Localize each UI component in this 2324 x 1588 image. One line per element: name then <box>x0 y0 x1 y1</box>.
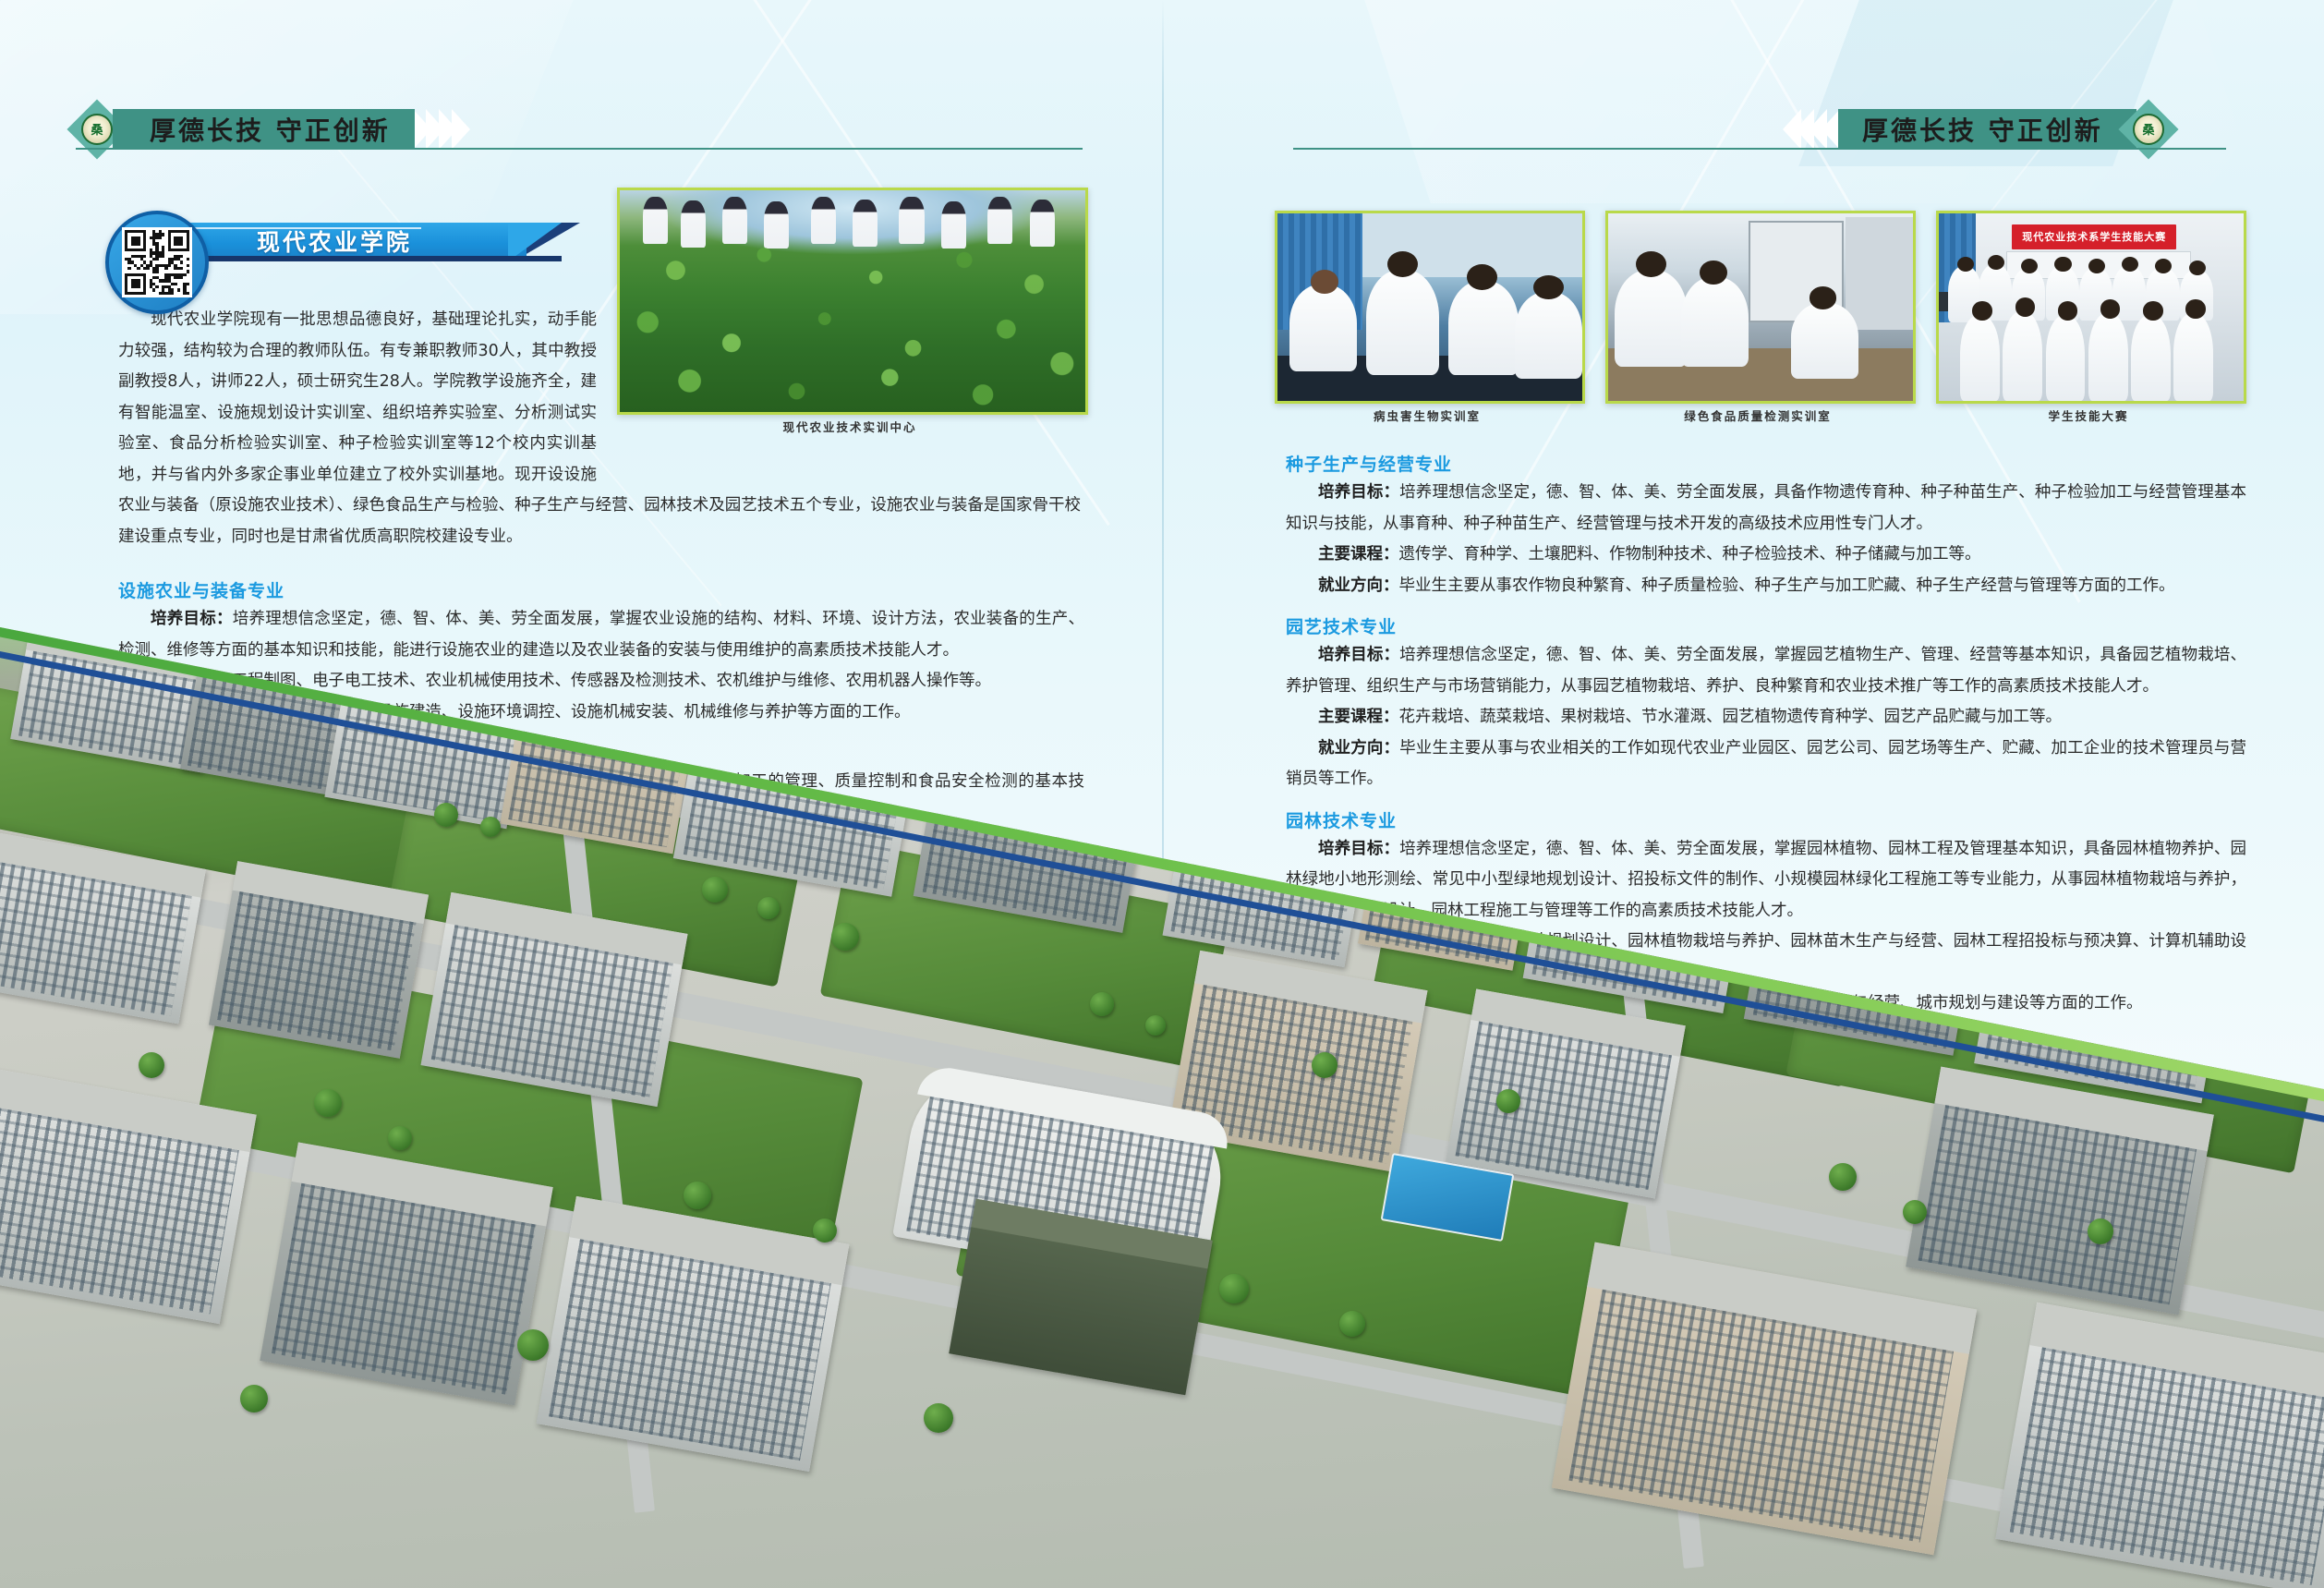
major-courses: 主要课程：遗传学、育种学、土壤肥料、作物制种技术、种子检验技术、种子储藏与加工等… <box>1286 539 2246 571</box>
right-chevrons <box>1783 109 1840 150</box>
right-header-ribbon: 厚德长技 守正创新 桑 <box>1783 109 2170 150</box>
lab-coat-front <box>2173 313 2213 401</box>
lab-photo-pest <box>1275 211 1585 404</box>
college-title-banner: 现代农业学院 <box>164 223 580 261</box>
intro-photo-spacer <box>597 305 1081 490</box>
person-head <box>2021 259 2038 273</box>
person-figure <box>811 197 836 244</box>
person-figure <box>722 197 747 244</box>
campus-tree <box>702 877 728 903</box>
college-title-text: 现代农业学院 <box>257 224 412 258</box>
campus-tree <box>240 1385 268 1412</box>
left-chevrons <box>413 109 470 150</box>
student-skills-photo-caption: 学生技能大赛 <box>1936 406 2241 424</box>
campus-tree <box>1903 1200 1927 1224</box>
person-head <box>1957 257 1974 272</box>
left-intro-flow: 现代农业学院现有一批思想品德良好，基础理论扎实，动手能力较强，结构较为合理的教师… <box>118 305 1081 552</box>
campus-tree <box>388 1126 412 1150</box>
page-gutter-divider <box>1162 0 1164 1007</box>
goal-text: 培养理想信念坚定，德、智、体、美、劳全面发展，掌握农业设施的结构、材料、环境、设… <box>118 610 1084 660</box>
pest-lab-scene <box>1277 213 1582 401</box>
major-goal: 培养目标：培养理想信念坚定，德、智、体、美、劳全面发展，掌握园艺植物生产、管理、… <box>1286 640 2246 702</box>
lab-coat <box>1366 270 1439 375</box>
brochure-page: 桑 厚德长技 守正创新 厚德长技 守正创新 桑 <box>0 0 2324 1588</box>
left-slogan-text: 厚德长技 守正创新 <box>150 111 391 148</box>
major-goal: 培养目标：培养理想信念坚定，德、智、体、美、劳全面发展，具备作物遗传育种、种子种… <box>1286 478 2246 539</box>
lab-coat-front <box>2003 311 2042 401</box>
major-courses: 主要课程：花卉栽培、蔬菜栽培、果树栽培、节水灌溉、园艺植物遗传育种学、园艺产品贮… <box>1286 702 2246 733</box>
person-figure <box>643 197 668 244</box>
courses-label: 主要课程： <box>1318 708 1399 726</box>
person-head <box>2122 257 2138 272</box>
lab-cabinet <box>1846 217 1913 330</box>
bg-polygon-1 <box>0 0 588 314</box>
career-label: 就业方向： <box>1318 739 1399 758</box>
campus-tree <box>684 1182 711 1209</box>
person-head <box>1700 261 1727 285</box>
campus-tree <box>924 1403 953 1433</box>
campus-tree <box>480 817 501 837</box>
person-figure <box>899 197 924 244</box>
campus-tree <box>2088 1218 2113 1244</box>
person-head <box>1988 255 2004 270</box>
chevron-right-icon <box>452 109 470 150</box>
college-qr-code[interactable] <box>105 211 209 314</box>
campus-building <box>1446 988 1685 1198</box>
competition-red-banner: 现代农业技术系学生技能大赛 <box>2012 224 2176 249</box>
campus-tree <box>1496 1089 1520 1113</box>
career-label: 就业方向： <box>1318 576 1399 595</box>
major-block-seed: 种子生产与经营专业 培养目标：培养理想信念坚定，德、智、体、美、劳全面发展，具备… <box>1286 451 2246 601</box>
lab-coat <box>1681 277 1749 367</box>
person-head <box>1636 251 1666 277</box>
person-head <box>1467 264 1497 290</box>
campus-tree <box>1312 1052 1338 1078</box>
left-header-rule <box>76 148 1083 150</box>
career-text: 毕业生主要从事农作物良种繁育、种子质量检验、种子生产与加工贮藏、种子生产经营与管… <box>1399 576 2175 595</box>
campus-tree <box>1090 992 1114 1016</box>
person-head <box>1810 286 1837 309</box>
student-skills-photo: 现代农业技术系学生技能大赛 <box>1936 211 2246 404</box>
campus-building <box>209 861 429 1059</box>
campus-tree <box>314 1089 342 1117</box>
lab-photo-pest-caption: 病虫害生物实训室 <box>1275 406 1580 424</box>
campus-tree <box>139 1052 164 1078</box>
lab-coat-front <box>2046 315 2086 401</box>
major-title: 设施农业与装备专业 <box>118 577 1084 602</box>
food-lab-scene <box>1608 213 1913 401</box>
campus-building <box>260 1143 552 1406</box>
goal-label: 培养目标： <box>1318 646 1399 664</box>
campus-tree <box>1829 1163 1857 1191</box>
person-head <box>2058 301 2077 320</box>
lab-coat <box>1791 303 1858 378</box>
person-head <box>2100 299 2120 318</box>
campus-tree <box>434 803 458 827</box>
goal-text: 培养理想信念坚定，德、智、体、美、劳全面发展，掌握园艺植物生产、管理、经营等基本… <box>1286 646 2246 696</box>
major-block-horticulture: 园艺技术专业 培养目标：培养理想信念坚定，德、智、体、美、劳全面发展，掌握园艺植… <box>1286 613 2246 795</box>
major-career: 就业方向：毕业生主要从事与农业相关的工作如现代农业产业园区、园艺公司、园艺场等生… <box>1286 733 2246 795</box>
major-title: 种子生产与经营专业 <box>1286 451 2246 476</box>
major-career: 就业方向：毕业生主要从事农作物良种繁育、种子质量检验、种子生产与加工贮藏、种子生… <box>1286 571 2246 602</box>
right-header-rule <box>1293 148 2226 150</box>
goal-label: 培养目标： <box>151 610 233 628</box>
person-head <box>2185 299 2205 318</box>
career-text: 毕业生主要从事与农业相关的工作如现代农业产业园区、园艺公司、园艺场等生产、贮藏、… <box>1286 739 2246 789</box>
bg-polygon-2 <box>1340 0 2261 203</box>
goal-label: 培养目标： <box>1318 840 1399 858</box>
lab-photo-food-quality-caption: 绿色食品质量检测实训室 <box>1605 406 1910 424</box>
school-seal-icon: 桑 <box>2133 114 2164 145</box>
courses-text: 遗传学、育种学、土壤肥料、作物制种技术、种子检验技术、种子储藏与加工等。 <box>1399 545 1981 564</box>
left-header-ribbon: 桑 厚德长技 守正创新 <box>76 109 470 150</box>
campus-building <box>1995 1303 2324 1588</box>
right-slogan-text: 厚德长技 守正创新 <box>1862 111 2103 148</box>
campus-tree <box>1219 1274 1249 1303</box>
goal-label: 培养目标： <box>1318 483 1399 502</box>
goal-text: 培养理想信念坚定，德、智、体、美、劳全面发展，具备作物遗传育种、种子种苗生产、种… <box>1286 483 2246 533</box>
lab-coat <box>1448 281 1519 375</box>
lab-coat-front <box>2131 315 2171 401</box>
campus-tree <box>813 1218 837 1243</box>
lab-coat-front <box>1960 315 2000 401</box>
lab-photo-food-quality <box>1605 211 1916 404</box>
bg-diagonal-1 <box>0 0 113 506</box>
major-title: 园艺技术专业 <box>1286 613 2246 638</box>
major-title: 园林技术专业 <box>1286 807 2246 832</box>
student-skills-scene: 现代农业技术系学生技能大赛 <box>1939 213 2244 401</box>
school-seal-icon: 桑 <box>81 114 113 145</box>
courses-text: 花卉栽培、蔬菜栽培、果树栽培、节水灌溉、园艺植物遗传育种学、园艺产品贮藏与加工等… <box>1399 708 2063 726</box>
person-figure <box>987 197 1012 244</box>
lab-coat <box>1615 270 1688 368</box>
person-head <box>2143 301 2162 320</box>
major-goal: 培养目标：培养理想信念坚定，德、智、体、美、劳全面发展，掌握农业设施的结构、材料… <box>118 604 1084 666</box>
person-head <box>2189 261 2206 275</box>
person-head <box>1387 251 1418 277</box>
person-head <box>1311 270 1338 294</box>
person-head <box>2054 257 2071 272</box>
campus-building <box>537 1196 850 1472</box>
person-head <box>2088 259 2105 273</box>
left-slogan-band: 厚德长技 守正创新 <box>113 109 415 150</box>
campus-tree <box>831 923 859 951</box>
courses-text: 工程制图、电子电工技术、农业机械使用技术、传感器及检测技术、农机维护与维修、农用… <box>232 672 992 690</box>
campus-tree <box>517 1329 549 1361</box>
person-head <box>1972 301 1991 320</box>
lab-coat <box>1289 285 1357 370</box>
right-slogan-band: 厚德长技 守正创新 <box>1838 109 2136 150</box>
campus-tree <box>1145 1015 1166 1036</box>
campus-tree <box>757 897 780 919</box>
lab-coat <box>1515 292 1582 378</box>
chevron-left-icon <box>1822 109 1840 150</box>
courses-label: 主要课程： <box>1318 545 1399 564</box>
campus-tree <box>1339 1311 1365 1337</box>
goal-text: 培养理想信念坚定，德、智、体、美、劳全面发展，掌握园林植物、园林工程及管理基本知… <box>1286 840 2246 920</box>
qr-code-matrix <box>122 227 192 297</box>
person-head <box>2015 297 2035 316</box>
lab-coat-front <box>2088 313 2128 401</box>
